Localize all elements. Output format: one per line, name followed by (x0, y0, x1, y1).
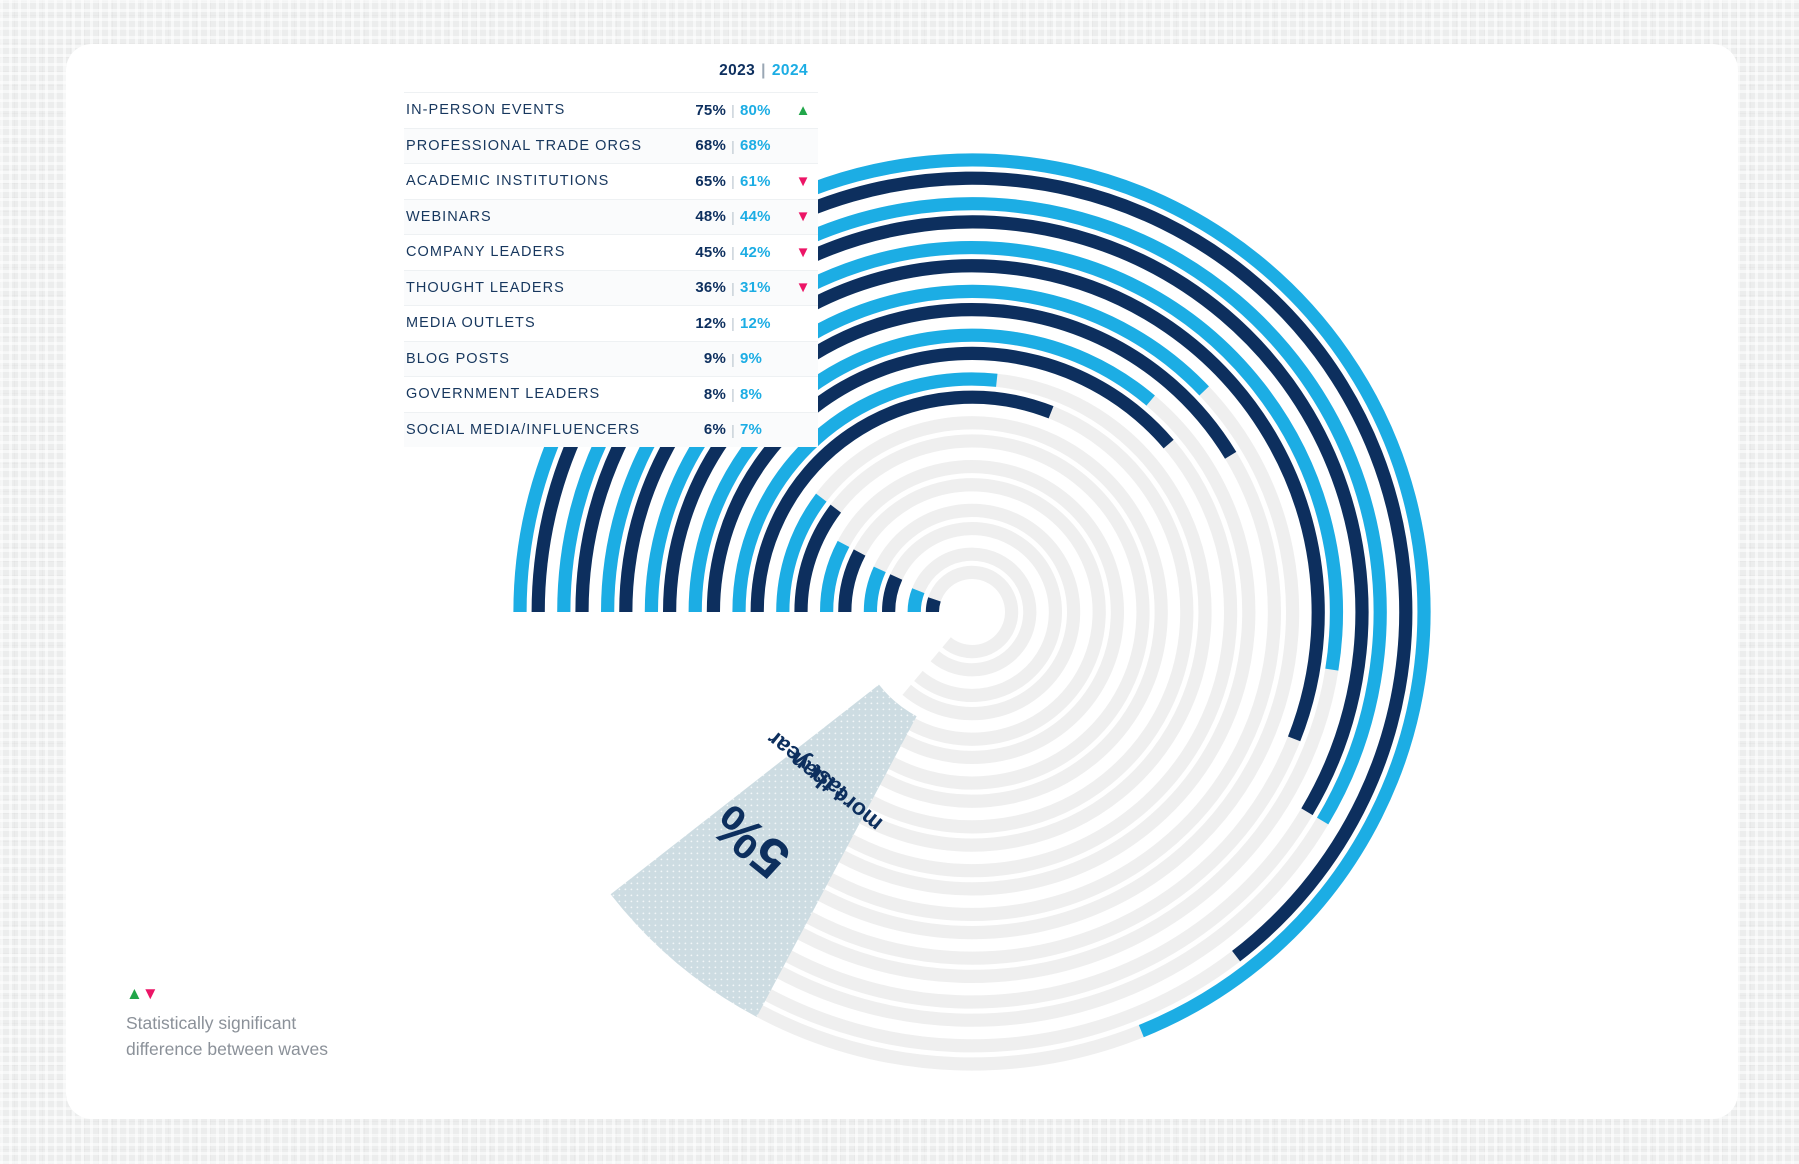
table-row: MEDIA OUTLETS12%|12% (404, 305, 818, 341)
legend-row-label: COMPANY LEADERS (404, 244, 680, 260)
legend-row-value-2024: 61% (740, 173, 788, 190)
legend-row-value-2024: 80% (740, 102, 788, 119)
legend-row-value-2023: 48% (680, 208, 726, 225)
footnote-text: Statistically significant difference bet… (126, 1011, 376, 1063)
table-row: IN-PERSON EVENTS75%|80%▲ (404, 92, 818, 128)
value-arc-2024-8 (870, 569, 879, 612)
legend-row-value-2023: 8% (680, 386, 726, 403)
value-arc-2023-9 (932, 599, 934, 612)
legend-row-value-2024: 8% (740, 386, 788, 403)
trend-up-icon: ▲ (126, 984, 142, 1003)
legend-header-2023: 2023 (719, 62, 755, 80)
table-row: GOVERNMENT LEADERS8%|8% (404, 376, 818, 412)
table-row: ACADEMIC INSTITUTIONS65%|61%▼ (404, 163, 818, 199)
legend-row-value-2023: 6% (680, 421, 726, 438)
value-arc-2023-8 (889, 577, 897, 612)
trend-down-icon: ▼ (142, 984, 158, 1003)
legend-row-value-2023: 36% (680, 279, 726, 296)
track-arc-2024-8 (870, 510, 1073, 713)
legend-row-label: PROFESSIONAL TRADE ORGS (404, 138, 680, 154)
legend-header-2024: 2024 (772, 62, 808, 80)
legend-row-separator: | (726, 244, 740, 260)
legend-row-value-2024: 12% (740, 315, 788, 332)
table-row: THOUGHT LEADERS36%|31%▼ (404, 270, 818, 306)
legend-row-separator: | (726, 138, 740, 154)
legend-row-separator: | (726, 173, 740, 189)
legend-table: 2023 | 2024 IN-PERSON EVENTS75%|80%▲PROF… (404, 62, 818, 447)
legend-row-value-2024: 31% (740, 279, 788, 296)
legend-row-label: IN-PERSON EVENTS (404, 102, 680, 118)
legend-header-separator: | (761, 62, 766, 80)
legend-row-value-2024: 44% (740, 208, 788, 225)
footnote-line-1: Statistically significant (126, 1011, 376, 1037)
legend-row-separator: | (726, 102, 740, 118)
legend-row-value-2023: 68% (680, 137, 726, 154)
footnote-line-2: difference between waves (126, 1037, 376, 1063)
legend-row-label: SOCIAL MEDIA/INFLUENCERS (404, 422, 680, 438)
table-row: BLOG POSTS9%|9% (404, 341, 818, 377)
legend-row-label: GOVERNMENT LEADERS (404, 386, 680, 402)
legend-row-separator: | (726, 351, 740, 367)
table-row: WEBINARS48%|44%▼ (404, 199, 818, 235)
trend-up-icon: ▲ (788, 103, 818, 118)
legend-row-value-2023: 9% (680, 350, 726, 367)
track-arc-2023-9 (932, 572, 1011, 651)
legend-row-value-2023: 65% (680, 173, 726, 190)
legend-row-value-2024: 42% (740, 244, 788, 261)
legend-row-label: ACADEMIC INSTITUTIONS (404, 173, 680, 189)
legend-row-value-2023: 12% (680, 315, 726, 332)
legend-row-label: BLOG POSTS (404, 351, 680, 367)
footnote-icons: ▲▼ (126, 985, 466, 1002)
legend-row-separator: | (726, 280, 740, 296)
table-row: PROFESSIONAL TRADE ORGS68%|68% (404, 128, 818, 164)
trend-down-icon: ▼ (788, 245, 818, 260)
legend-header: 2023 | 2024 (404, 62, 818, 92)
footnote: ▲▼ Statistically significant difference … (126, 985, 466, 1063)
trend-down-icon: ▼ (788, 280, 818, 295)
value-arc-2024-9 (914, 591, 918, 612)
legend-row-separator: | (726, 209, 740, 225)
table-row: COMPANY LEADERS45%|42%▼ (404, 234, 818, 270)
legend-row-value-2024: 9% (740, 350, 788, 367)
legend-row-value-2023: 45% (680, 244, 726, 261)
trend-down-icon: ▼ (788, 209, 818, 224)
legend-row-label: WEBINARS (404, 209, 680, 225)
value-arc-2023-7 (845, 552, 860, 612)
legend-row-value-2024: 68% (740, 137, 788, 154)
legend-rows: IN-PERSON EVENTS75%|80%▲PROFESSIONAL TRA… (404, 92, 818, 447)
legend-row-value-2023: 75% (680, 102, 726, 119)
legend-row-separator: | (726, 422, 740, 438)
legend-row-separator: | (726, 386, 740, 402)
trend-down-icon: ▼ (788, 174, 818, 189)
legend-row-value-2024: 7% (740, 421, 788, 438)
table-row: SOCIAL MEDIA/INFLUENCERS6%|7% (404, 412, 818, 448)
legend-row-label: MEDIA OUTLETS (404, 315, 680, 331)
legend-row-label: THOUGHT LEADERS (404, 280, 680, 296)
legend-row-separator: | (726, 315, 740, 331)
